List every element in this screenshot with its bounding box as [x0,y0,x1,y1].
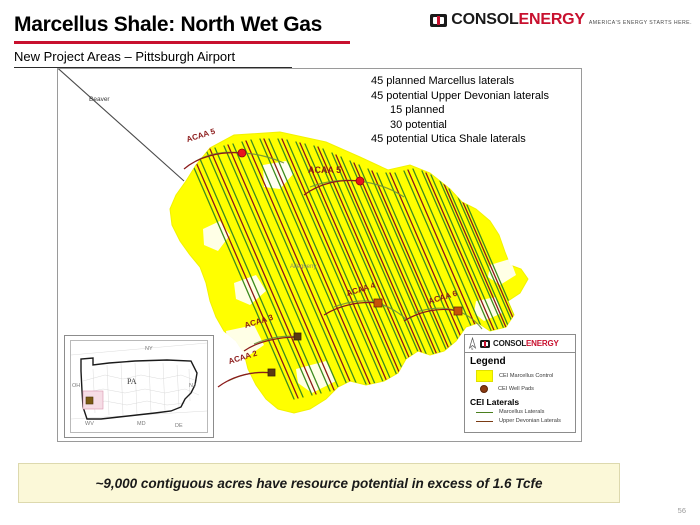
legend-logo-word-consol: CONSOL [493,339,526,348]
page-title: Marcellus Shale: North Wet Gas [14,13,322,37]
legend-swatch-green-line [476,412,493,413]
north-arrow-icon: N [468,337,477,350]
legend-item-label: CEI Marcellus Control [499,373,553,379]
well-pad-label-acaa5: ACAA 5 [308,165,341,175]
legend-item-marcellus-laterals: Marcellus Laterals [470,409,571,415]
inset-map-border: PA NY NJ MD DE WV OH [70,340,208,433]
legend-logo-bar: N CONSOLENERGY [465,335,575,353]
map-legend[interactable]: N CONSOLENERGY Legend CEI Marcellus Cont… [464,334,576,433]
legend-swatch-yellow-fill [476,370,493,382]
legend-item-label: Marcellus Laterals [499,409,544,415]
logo-word-energy: ENERGY [519,11,585,28]
callout-line-4: 30 potential [371,118,549,133]
legend-subheading-laterals: CEI Laterals [470,397,571,407]
inset-label-pa: PA [127,377,137,386]
callout-line-3: 15 planned [371,103,549,118]
legend-swatch-brown-line [476,421,493,422]
legend-consol-logo-mark-icon [480,340,490,348]
callout-line-1: 45 planned Marcellus laterals [371,74,549,89]
legend-item-upper-devonian-laterals: Upper Devonian Laterals [470,418,571,424]
map-panel[interactable]: Beaver Allegheny ACAA 5 ACAA 5 ACAA 4 AC… [57,68,582,442]
inset-label-oh: OH [72,383,80,389]
consol-energy-logo: CONSOLENERGY AMERICA'S ENERGY STARTS HER… [430,12,692,28]
page-number: 56 [678,506,686,515]
inset-label-md: MD [137,421,146,427]
inset-label-wv: WV [85,421,94,427]
pennsylvania-map-graphic [71,341,207,432]
inset-locator-map[interactable]: PA NY NJ MD DE WV OH [64,335,214,438]
inset-label-nj: NJ [189,383,196,389]
svg-text:N: N [471,347,474,350]
legend-item-marcellus-control: CEI Marcellus Control [470,370,571,382]
legend-item-well-pads: CEI Well Pads [470,385,571,393]
consol-logo-mark-icon [430,14,447,27]
inset-label-ny: NY [145,346,153,352]
title-divider [14,41,350,44]
inset-label-de: DE [175,423,183,429]
legend-item-label: Upper Devonian Laterals [499,418,561,424]
callout-line-2: 45 potential Upper Devonian laterals [371,89,549,104]
summary-banner: ~9,000 contiguous acres have resource po… [18,463,620,503]
summary-banner-text: ~9,000 contiguous acres have resource po… [95,476,542,491]
callout-line-5: 45 potential Utica Shale laterals [371,132,549,147]
logo-tagline: AMERICA'S ENERGY STARTS HERE. [589,20,692,26]
logo-word-consol: CONSOL [451,11,518,28]
logo-wordmark: CONSOLENERGY AMERICA'S ENERGY STARTS HER… [451,12,692,28]
county-label-allegheny: Allegheny [290,264,316,270]
county-label-beaver: Beaver [89,96,110,103]
page-subtitle: New Project Areas – Pittsburgh Airport [14,49,235,64]
legend-heading: Legend [470,356,571,367]
legend-item-label: CEI Well Pads [498,386,534,392]
legend-body: Legend CEI Marcellus Control CEI Well Pa… [465,353,575,432]
legend-swatch-well-pad-dot-icon [475,385,492,393]
legend-logo-word-energy: ENERGY [526,339,559,348]
callout-text-block: 45 planned Marcellus laterals 45 potenti… [371,74,549,147]
